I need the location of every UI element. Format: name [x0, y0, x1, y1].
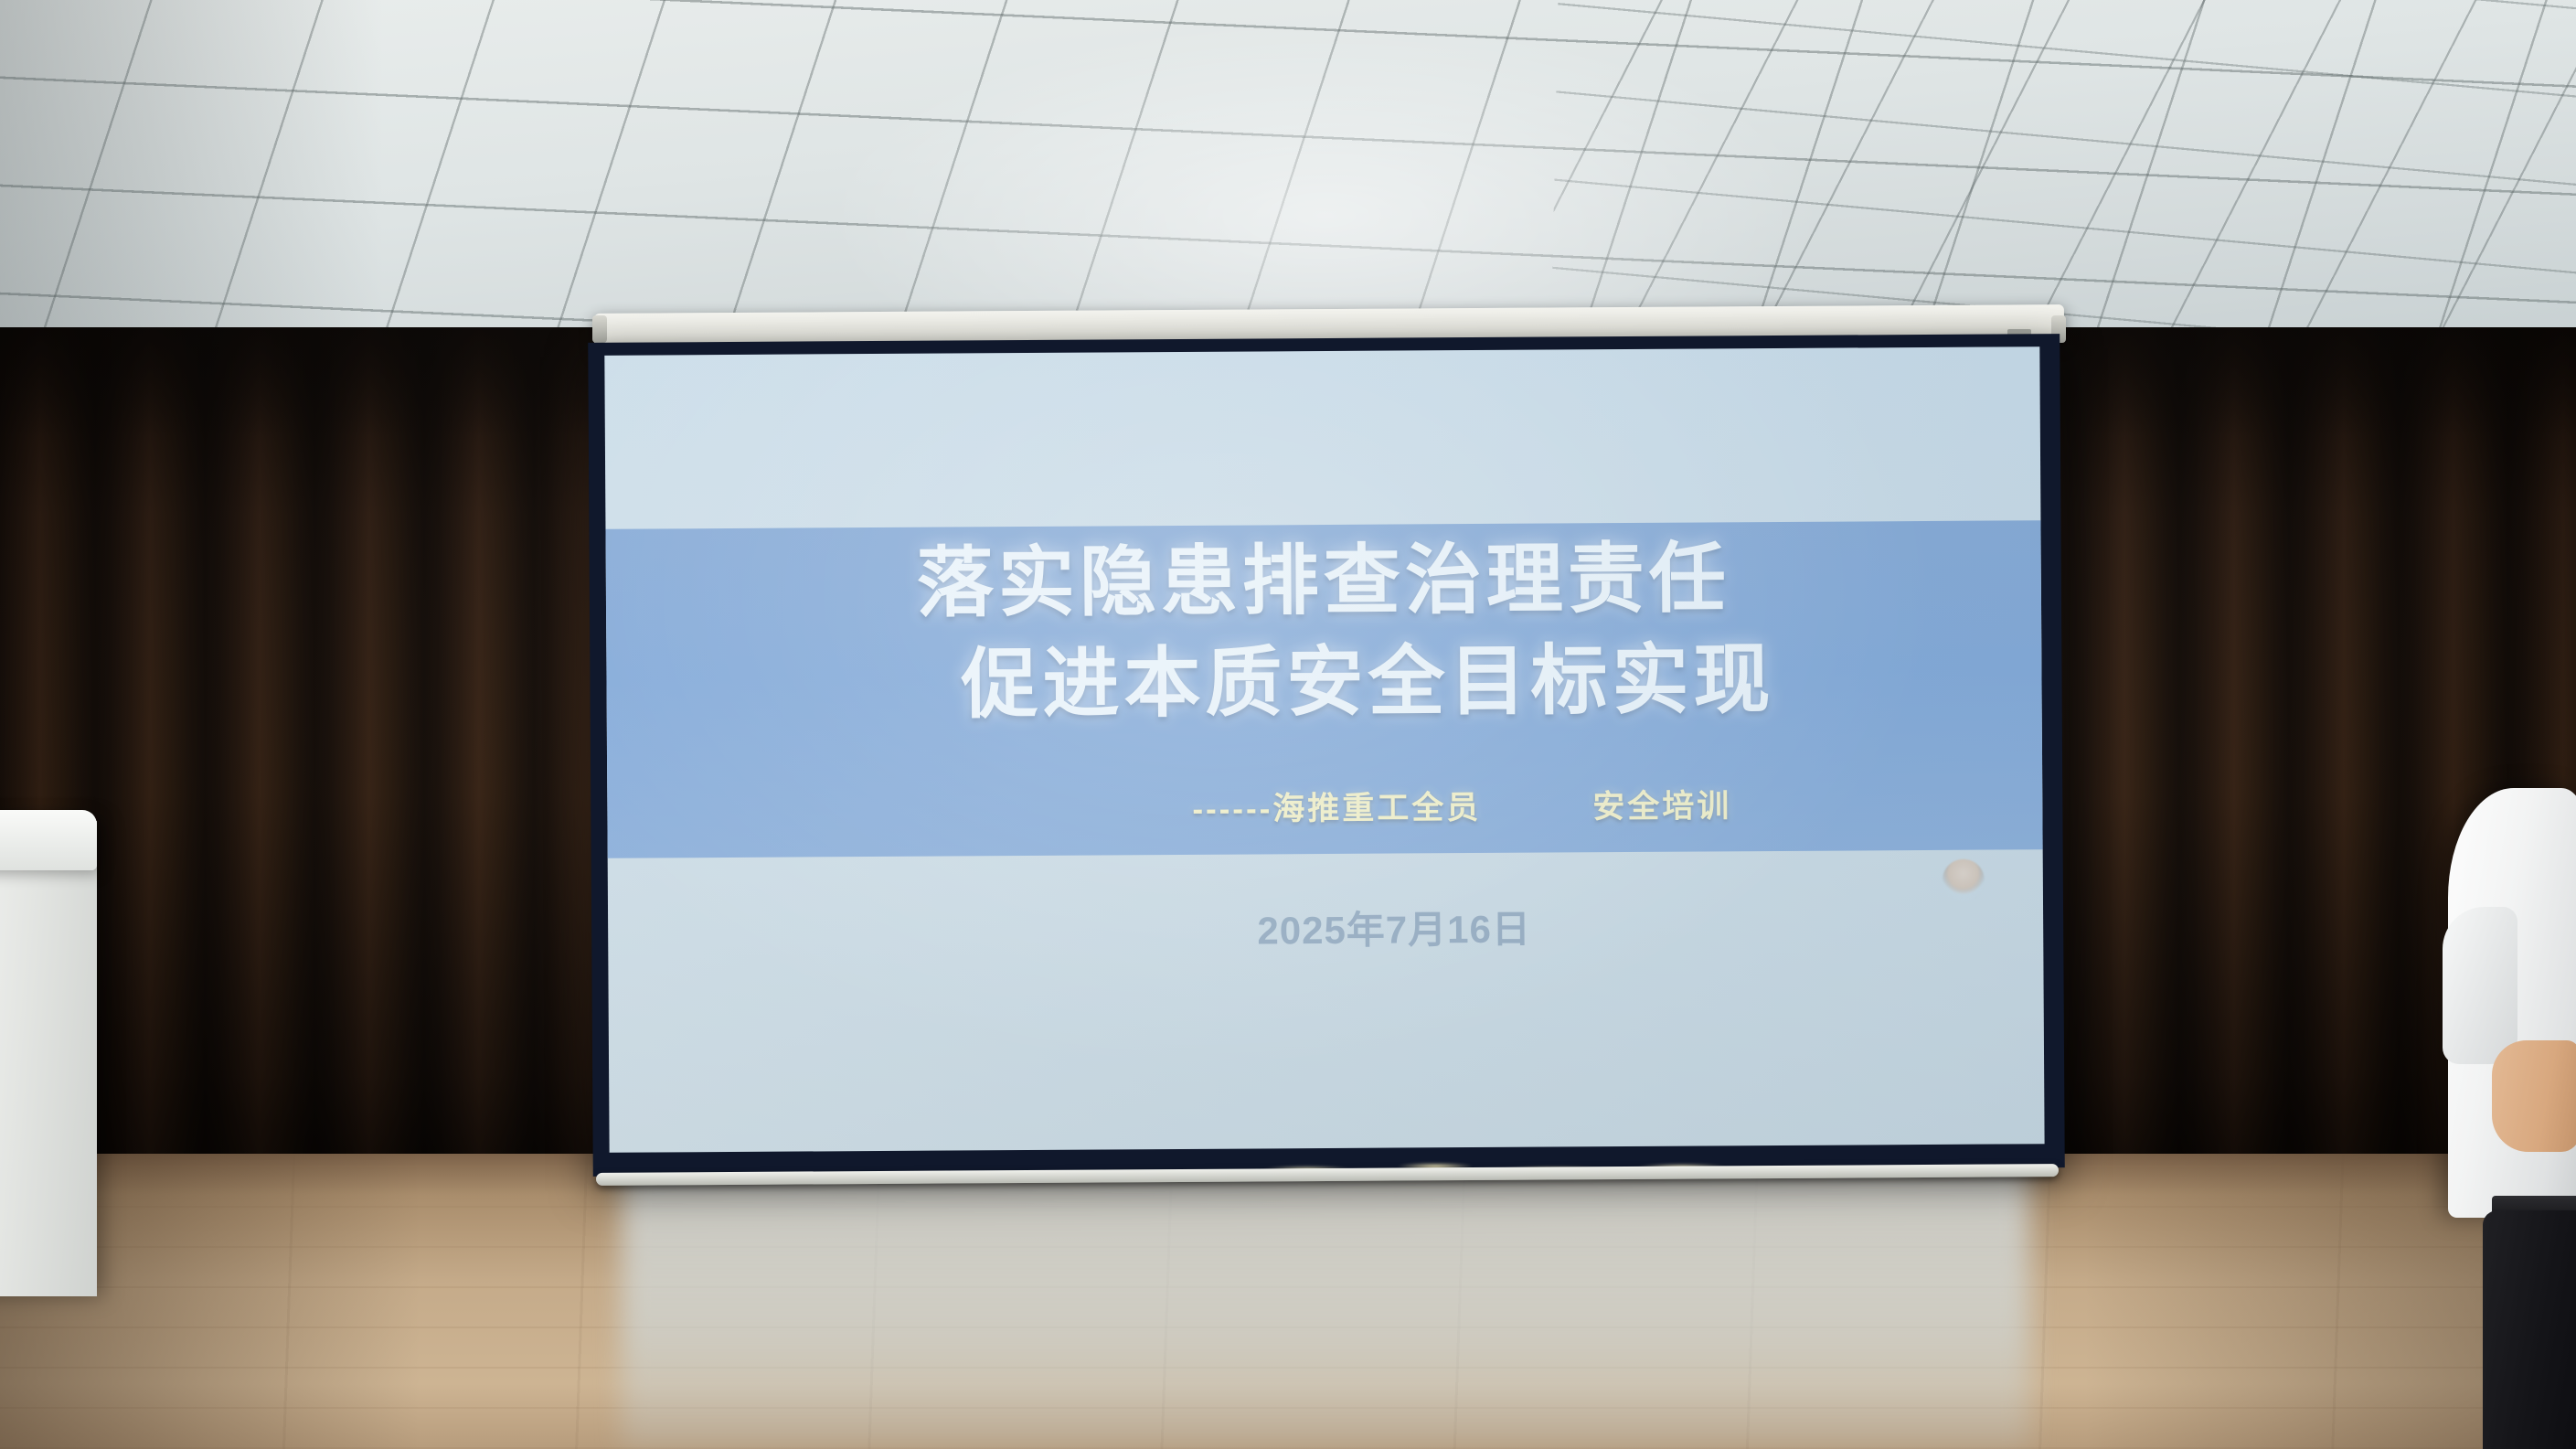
- slide-subtitle-row: ------海推重工全员 安全培训: [607, 778, 2042, 834]
- slide-subtitle-left: ------海推重工全员: [1192, 782, 1481, 830]
- roller-cap-left-icon: [592, 315, 607, 343]
- slide-date-row: 2025年7月16日: [608, 895, 2043, 960]
- person-arm: [2492, 1040, 2576, 1152]
- lectern-body: [0, 821, 97, 1296]
- person-avatar-icon: [1943, 859, 1985, 901]
- projection-screen-surface: 落实隐患排查治理责任 促进本质安全目标实现 ------海推重工全员 安全培训 …: [604, 346, 2044, 1153]
- slide-title-block: 落实隐患排查治理责任 促进本质安全目标实现: [606, 526, 2042, 737]
- person-trousers: [2483, 1210, 2576, 1449]
- presentation-slide: 落实隐患排查治理责任 促进本质安全目标实现 ------海推重工全员 安全培训 …: [604, 346, 2044, 1153]
- person-in-white-shirt: [2443, 788, 2576, 1449]
- slide-title-line-1: 落实隐患排查治理责任: [606, 526, 2042, 635]
- projection-screen-frame: 落实隐患排查治理责任 促进本质安全目标实现 ------海推重工全员 安全培训 …: [588, 334, 2065, 1177]
- ceiling-shadow-left: [0, 0, 384, 366]
- person-sleeve: [2443, 907, 2517, 1064]
- slide-title-line-2: 促进本质安全目标实现: [606, 627, 2042, 737]
- conference-room-scene: 落实隐患排查治理责任 促进本质安全目标实现 ------海推重工全员 安全培训 …: [0, 0, 2576, 1449]
- projector-light-spill: [622, 1161, 2029, 1449]
- ceiling-light-glow: [823, 18, 1828, 347]
- lectern-top: [0, 810, 97, 870]
- slide-date: 2025年7月16日: [1257, 908, 1531, 953]
- slide-subtitle-right: 安全培训: [1592, 780, 1731, 827]
